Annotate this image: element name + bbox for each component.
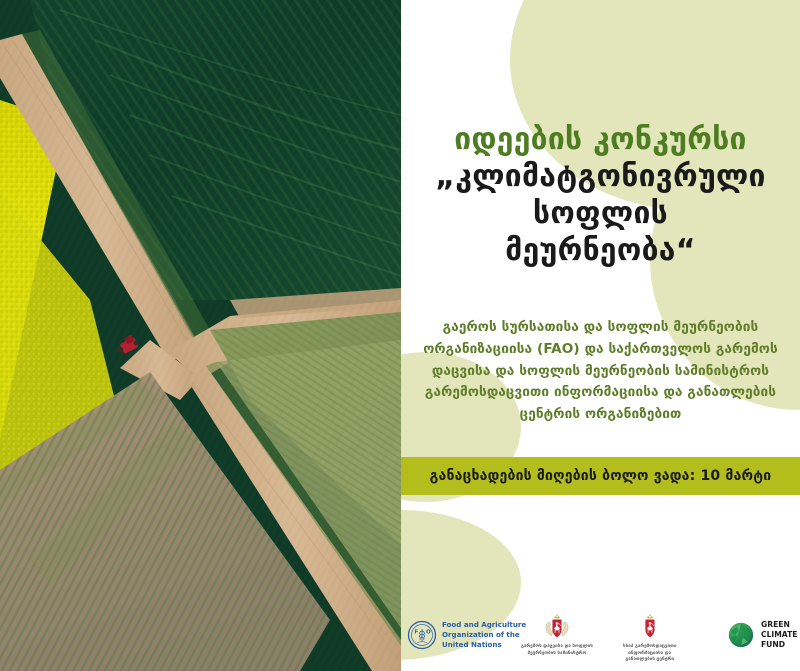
poster-title-secondary-line-1: „კლიმატგონივრული: [409, 159, 792, 196]
poster: იდეების კონკურსი „კლიმატგონივრული სოფლის…: [0, 0, 800, 671]
poster-title-primary: იდეების კონკურსი: [409, 122, 792, 157]
logo-environmental-information-education-center: სსიპ გარემოსდაცვითი ინფორმაციისა და განა…: [623, 614, 676, 664]
green-globe-icon: [726, 620, 756, 650]
ministry-logo-text: გარემოს დაცვისა და სოფლის მეურნეობის სამ…: [521, 644, 593, 657]
gcf-text-line-1: GREEN: [761, 620, 797, 630]
aerial-farmland-photo: [0, 0, 401, 671]
poster-body-text: გაეროს სურსათისა და სოფლის მეურნეობის ორ…: [415, 317, 786, 426]
deadline-banner: განაცხადების მიღების ბოლო ვადა: 10 მარტი: [401, 457, 800, 495]
body-line-1: გაეროს სურსათისა და სოფლის მეურნეობის: [415, 317, 786, 339]
svg-text:F: F: [415, 630, 419, 636]
logo-row: F O Food: [401, 608, 800, 668]
poster-title-block: იდეების კონკურსი „კლიმატგონივრული სოფლის…: [401, 122, 800, 269]
eiec-text-line-1: სსიპ გარემოსდაცვითი: [623, 644, 676, 651]
content-panel: იდეების კონკურსი „კლიმატგონივრული სოფლის…: [401, 0, 800, 671]
ministry-text-line-1: გარემოს დაცვისა და სოფლის: [521, 644, 593, 651]
poster-title-secondary: „კლიმატგონივრული სოფლის მეურნეობა“: [409, 159, 792, 269]
eiec-text-line-3: განათლების ცენტრი: [623, 657, 676, 664]
aerial-photo-illustration: [0, 0, 401, 671]
fao-wheat-emblem-icon: F O: [407, 620, 437, 650]
fao-text-line-1: Food and Agriculture: [442, 620, 526, 630]
body-line-5: ცენტრის ორგანიზებით: [415, 404, 786, 426]
svg-text:O: O: [426, 630, 431, 636]
georgia-coat-of-arms-icon: [640, 614, 660, 642]
body-line-2: ორგანიზაციისა (FAO) და საქართველოს გარემ…: [415, 339, 786, 361]
gcf-text-line-2: CLIMATE: [761, 630, 797, 640]
eiec-logo-text: სსიპ გარემოსდაცვითი ინფორმაციისა და განა…: [623, 644, 676, 664]
poster-title-secondary-line-2: სოფლის: [409, 196, 792, 233]
gcf-text-line-3: FUND: [761, 640, 797, 650]
poster-title-secondary-line-3: მეურნეობა“: [409, 233, 792, 270]
logo-ministry-environment-agriculture: გარემოს დაცვისა და სოფლის მეურნეობის სამ…: [521, 614, 593, 657]
ministry-text-line-2: მეურნეობის სამინისტრო: [521, 651, 593, 658]
gcf-logo-text: GREEN CLIMATE FUND: [761, 620, 797, 650]
logo-green-climate-fund: GREEN CLIMATE FUND: [726, 620, 797, 650]
fao-logo-text: Food and Agriculture Organization of the…: [442, 620, 526, 650]
body-line-3: დაცვისა და სოფლის მეურნეობის სამინისტროს: [415, 361, 786, 383]
georgia-coat-of-arms-icon: [540, 614, 574, 642]
deadline-text: განაცხადების მიღების ბოლო ვადა: 10 მარტი: [430, 468, 772, 484]
fao-text-line-2: Organization of the: [442, 630, 526, 640]
fao-text-line-3: United Nations: [442, 640, 526, 650]
logo-fao: F O Food: [407, 620, 526, 650]
body-line-4: გარემოსდაცვითი ინფორმაციისა და განათლები…: [415, 382, 786, 404]
